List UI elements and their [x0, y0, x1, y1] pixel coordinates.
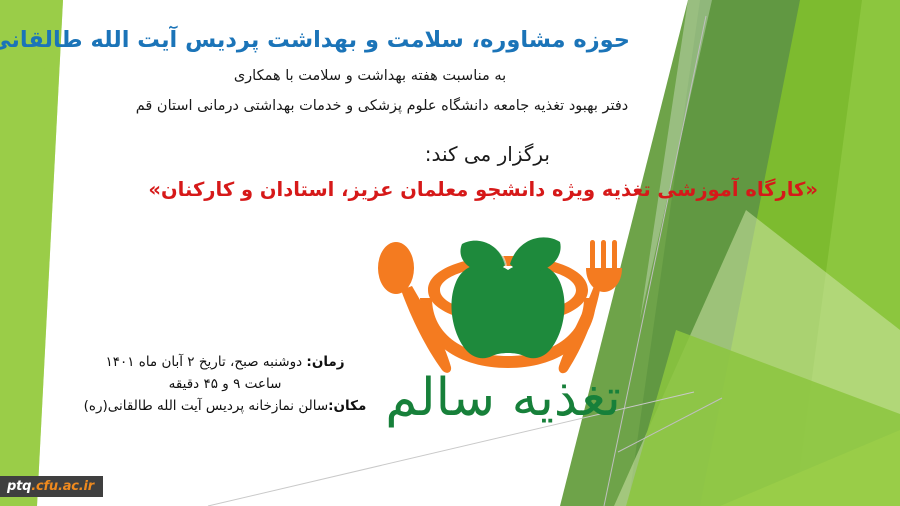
invitation-line: برگزار می کند:	[425, 142, 550, 166]
subtitle-line-1: به مناسبت هفته بهداشت و سلامت با همکاری	[135, 68, 605, 84]
watermark-prefix: ptq	[7, 479, 31, 494]
place-label: مکان:	[328, 398, 366, 414]
logo-caption: تغذیه سالم	[372, 372, 634, 424]
event-time-row: زمان: دوشنبه صبح، تاریخ ۲ آبان ماه ۱۴۰۱	[75, 352, 375, 374]
page-title: حوزه مشاوره، سلامت و بهداشت پردیس آیت ال…	[100, 26, 630, 54]
event-place-row: مکان:سالن نمازخانه پردیس آیت الله طالقان…	[75, 396, 375, 418]
watermark-suffix: .cfu.ac.ir	[31, 479, 94, 494]
event-hour-row: ساعت ۹ و ۴۵ دقیقه	[75, 374, 375, 396]
workshop-title: «کارگاه آموزشی تغذیه ویژه دانشجو معلمان …	[228, 178, 818, 201]
place-value: سالن نمازخانه پردیس آیت الله طالقانی(ره)	[84, 398, 329, 414]
poster-canvas: حوزه مشاوره، سلامت و بهداشت پردیس آیت ال…	[0, 0, 900, 506]
green-apple-icon	[451, 263, 564, 358]
leaf-icon	[460, 237, 560, 272]
time-value: دوشنبه صبح، تاریخ ۲ آبان ماه ۱۴۰۱	[105, 354, 306, 370]
subtitle-line-2: دفتر بهبود تغذیه جامعه دانشگاه علوم پزشک…	[132, 98, 632, 114]
site-watermark: ptq.cfu.ac.ir	[0, 476, 103, 497]
time-label: زمان:	[306, 354, 344, 370]
event-details: زمان: دوشنبه صبح، تاریخ ۲ آبان ماه ۱۴۰۱ …	[75, 352, 375, 418]
